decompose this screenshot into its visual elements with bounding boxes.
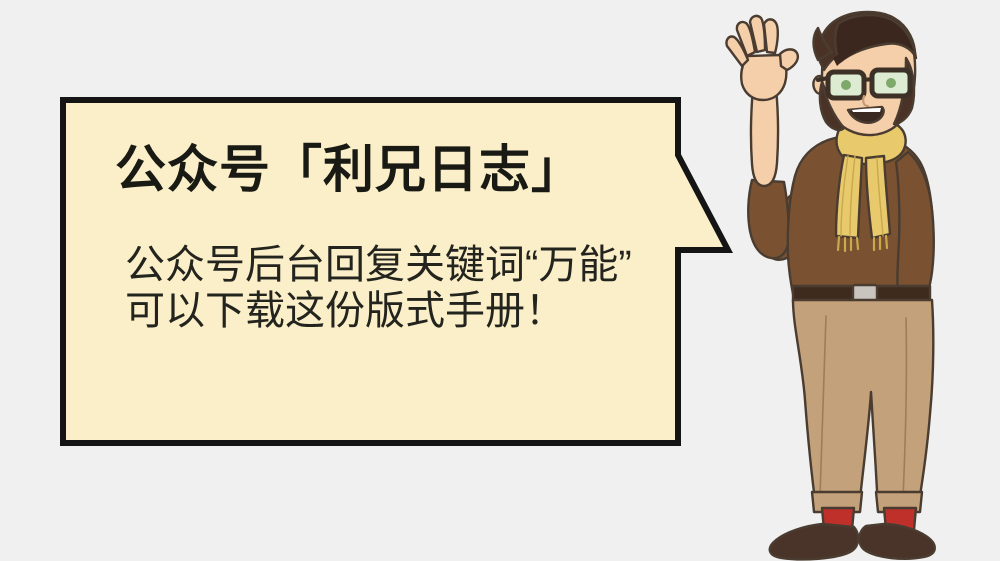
eye-left — [841, 80, 851, 90]
glasses-icon — [818, 70, 910, 98]
trousers — [793, 300, 933, 508]
eye-right — [886, 78, 896, 88]
finger-thumb — [780, 49, 798, 70]
left-sleeve-upper — [748, 180, 789, 258]
poster-canvas: 公众号「利兄日志」 公众号后台回复关键词“万能” 可以下载这份版式手册！ — [0, 0, 1000, 561]
shoe-right — [859, 524, 935, 559]
shoe-left — [770, 524, 858, 559]
finger-index — [764, 19, 778, 53]
character-illustration — [0, 0, 1000, 561]
